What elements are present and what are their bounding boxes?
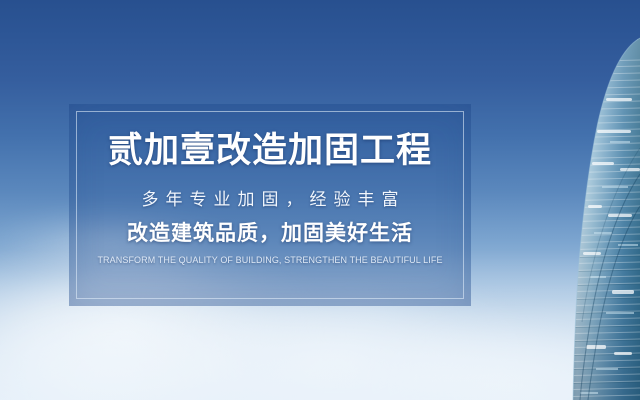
slogan-line-1: 多年专业加固，经验丰富 (135, 189, 406, 211)
company-headline: 贰加壹改造加固工程 (108, 131, 432, 171)
hero-banner: 贰加壹改造加固工程 多年专业加固，经验丰富 改造建筑品质，加固美好生活 TRAN… (0, 0, 640, 400)
slogan-panel: 贰加壹改造加固工程 多年专业加固，经验丰富 改造建筑品质，加固美好生活 TRAN… (69, 104, 471, 306)
skyscraper-container (550, 0, 640, 400)
slogan-line-2: 改造建筑品质，加固美好生活 (127, 221, 413, 247)
slogan-line-english: TRANSFORM THE QUALITY OF BUILDING, STREN… (97, 254, 442, 266)
panel-content: 贰加壹改造加固工程 多年专业加固，经验丰富 改造建筑品质，加固美好生活 TRAN… (69, 104, 471, 306)
curved-glass-skyscraper-icon (550, 0, 640, 400)
